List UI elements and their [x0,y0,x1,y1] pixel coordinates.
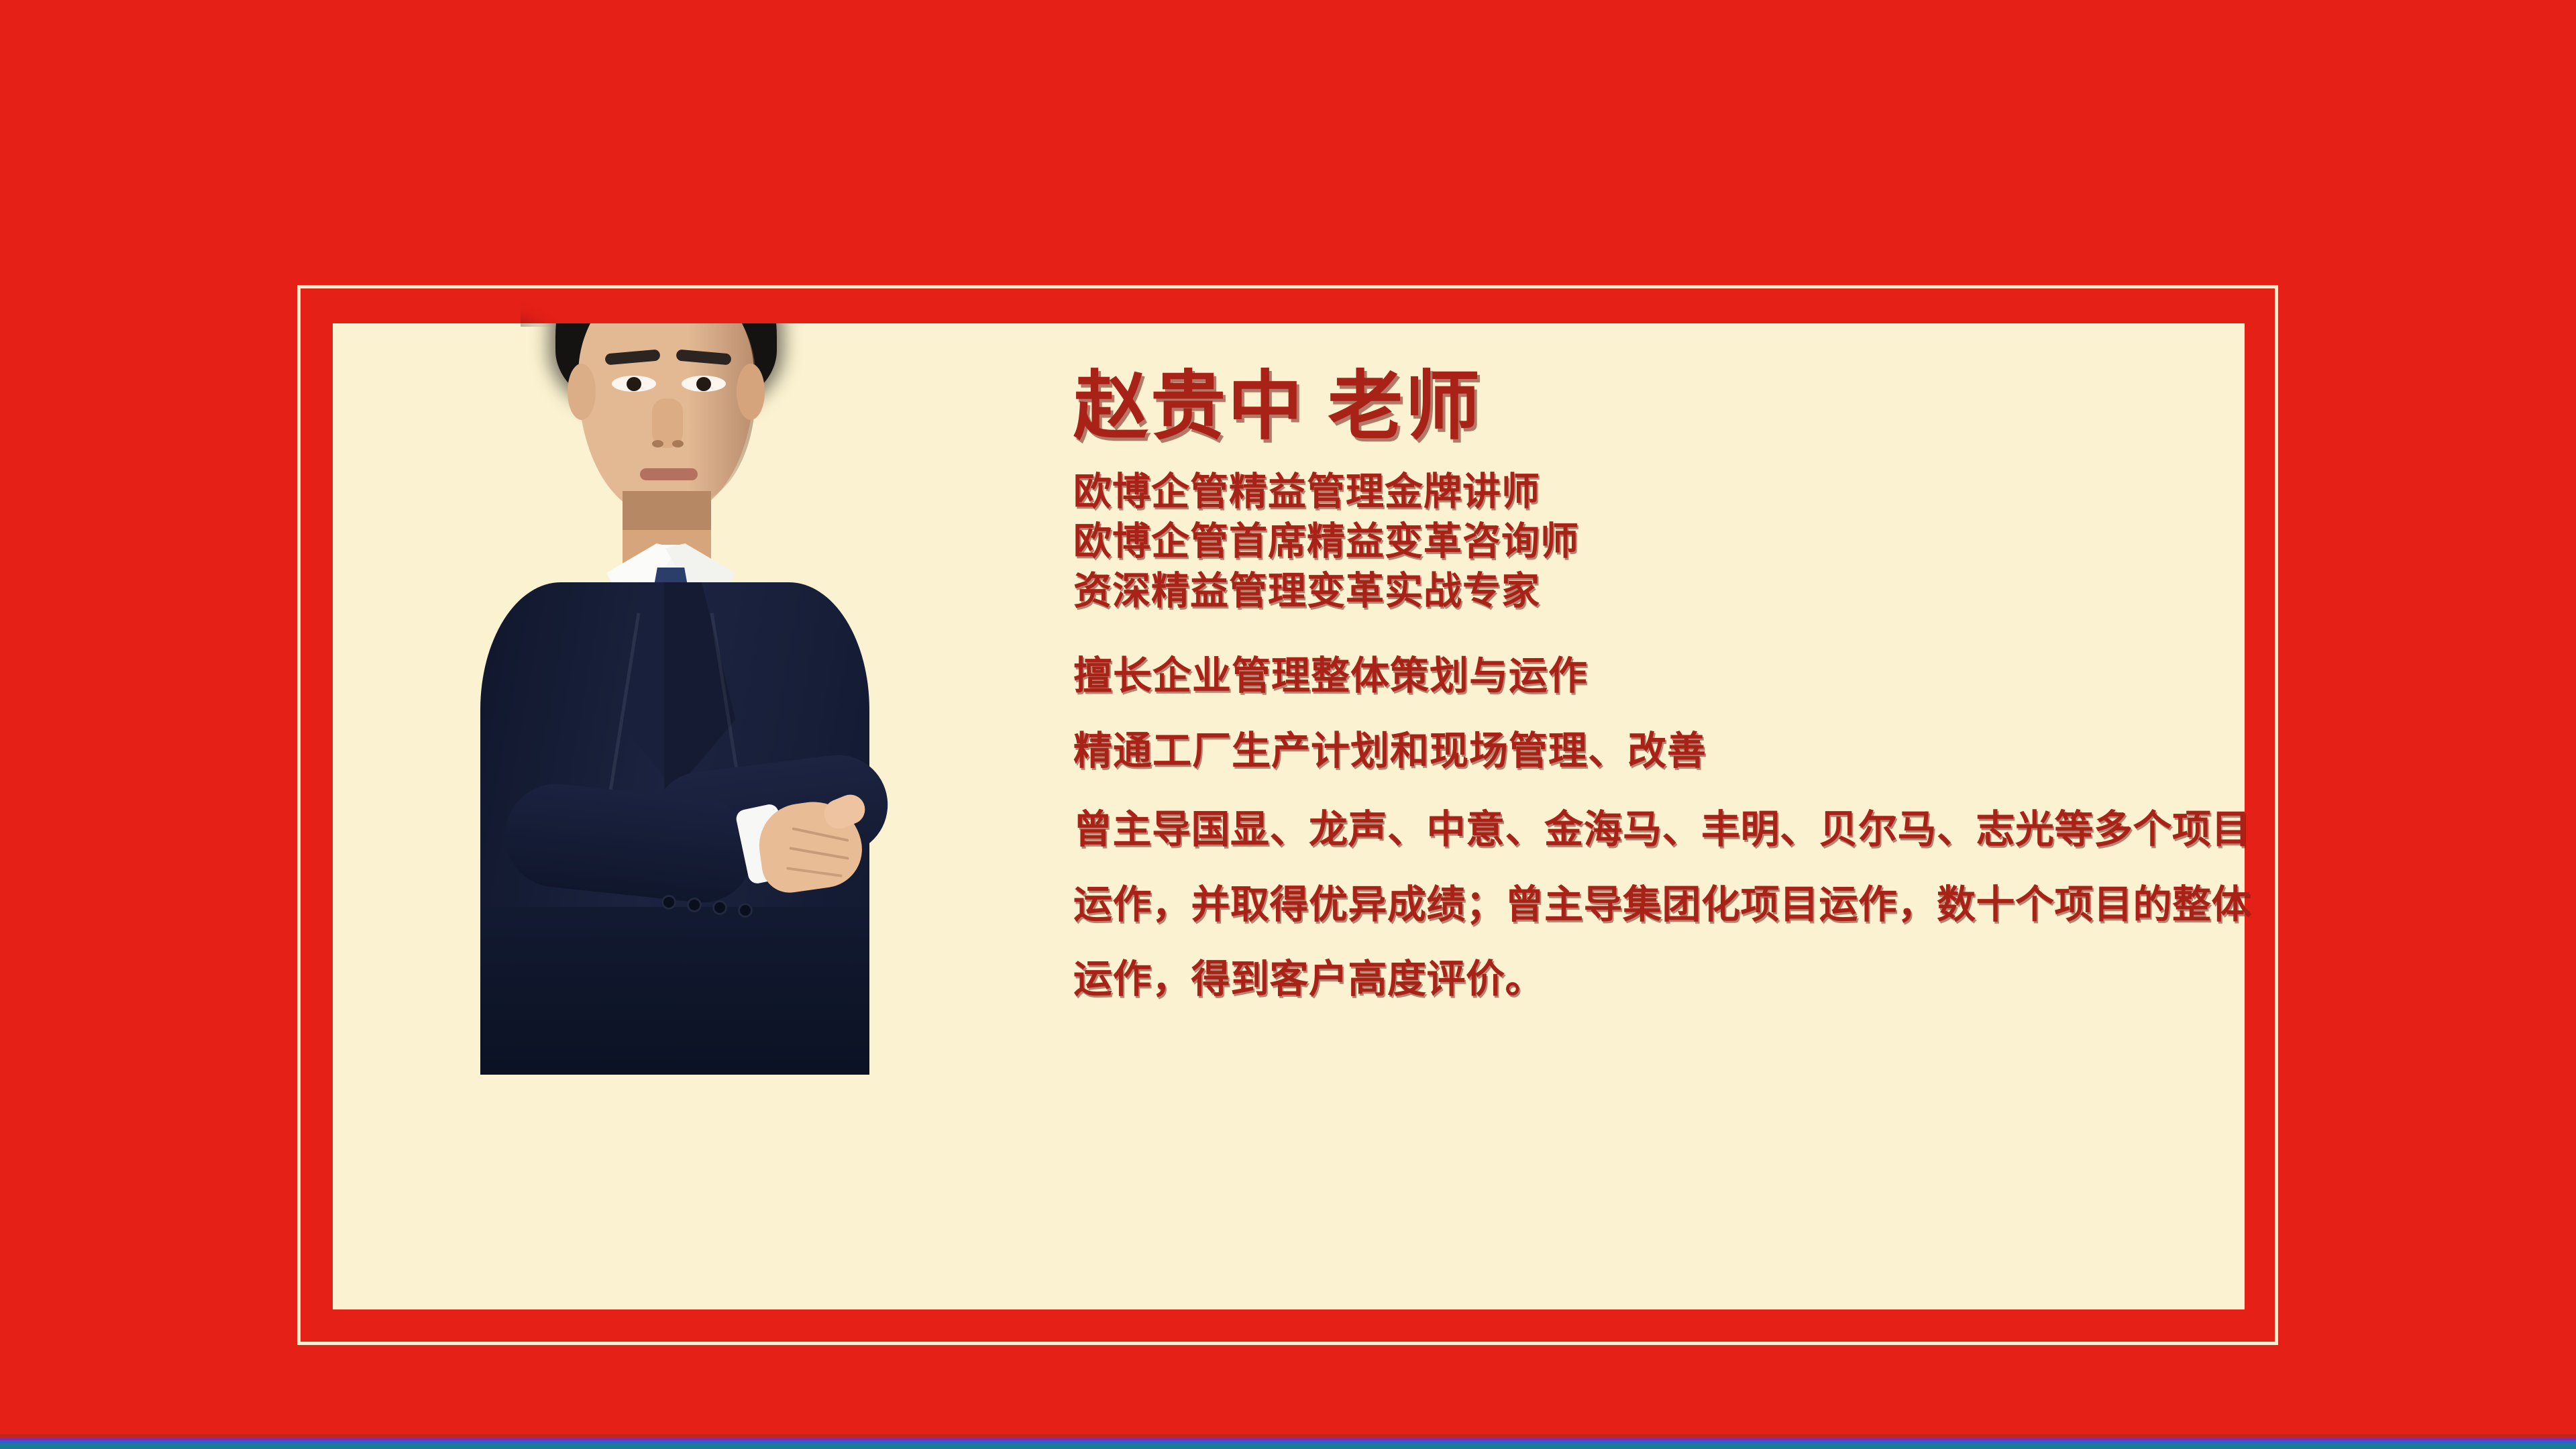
credential-item: 资深精益管理变革实战专家 [1073,566,2254,616]
instructor-name-title: 赵贵中 老师 [1073,362,2254,451]
profile-text-column: 赵贵中 老师 欧博企管精益管理金牌讲师 欧博企管首席精益变革咨询师 资深精益管理… [1073,362,2254,1016]
portrait-head-overflow [521,209,802,327]
credential-item: 欧博企管精益管理金牌讲师 [1073,467,2254,517]
slide-canvas: 赵贵中 老师 欧博企管精益管理金牌讲师 欧博企管首席精益变革咨询师 资深精益管理… [0,0,2576,1449]
credentials-list: 欧博企管精益管理金牌讲师 欧博企管首席精益变革咨询师 资深精益管理变革实战专家 [1073,467,2254,616]
bottom-player-strip[interactable] [0,1434,2576,1449]
skill-item: 擅长企业管理整体策划与运作 [1073,639,2254,713]
skill-item: 精通工厂生产计划和现场管理、改善 [1073,714,2254,788]
credential-item: 欧博企管首席精益变革咨询师 [1073,517,2254,566]
strip-segment-teal [0,1443,2576,1449]
skills-list: 擅长企业管理整体策划与运作 精通工厂生产计划和现场管理、改善 [1073,639,2254,788]
biography-paragraph: 曾主导国显、龙声、中意、金海马、丰明、贝尔马、志光等多个项目运作，并取得优异成绩… [1073,792,2254,1016]
